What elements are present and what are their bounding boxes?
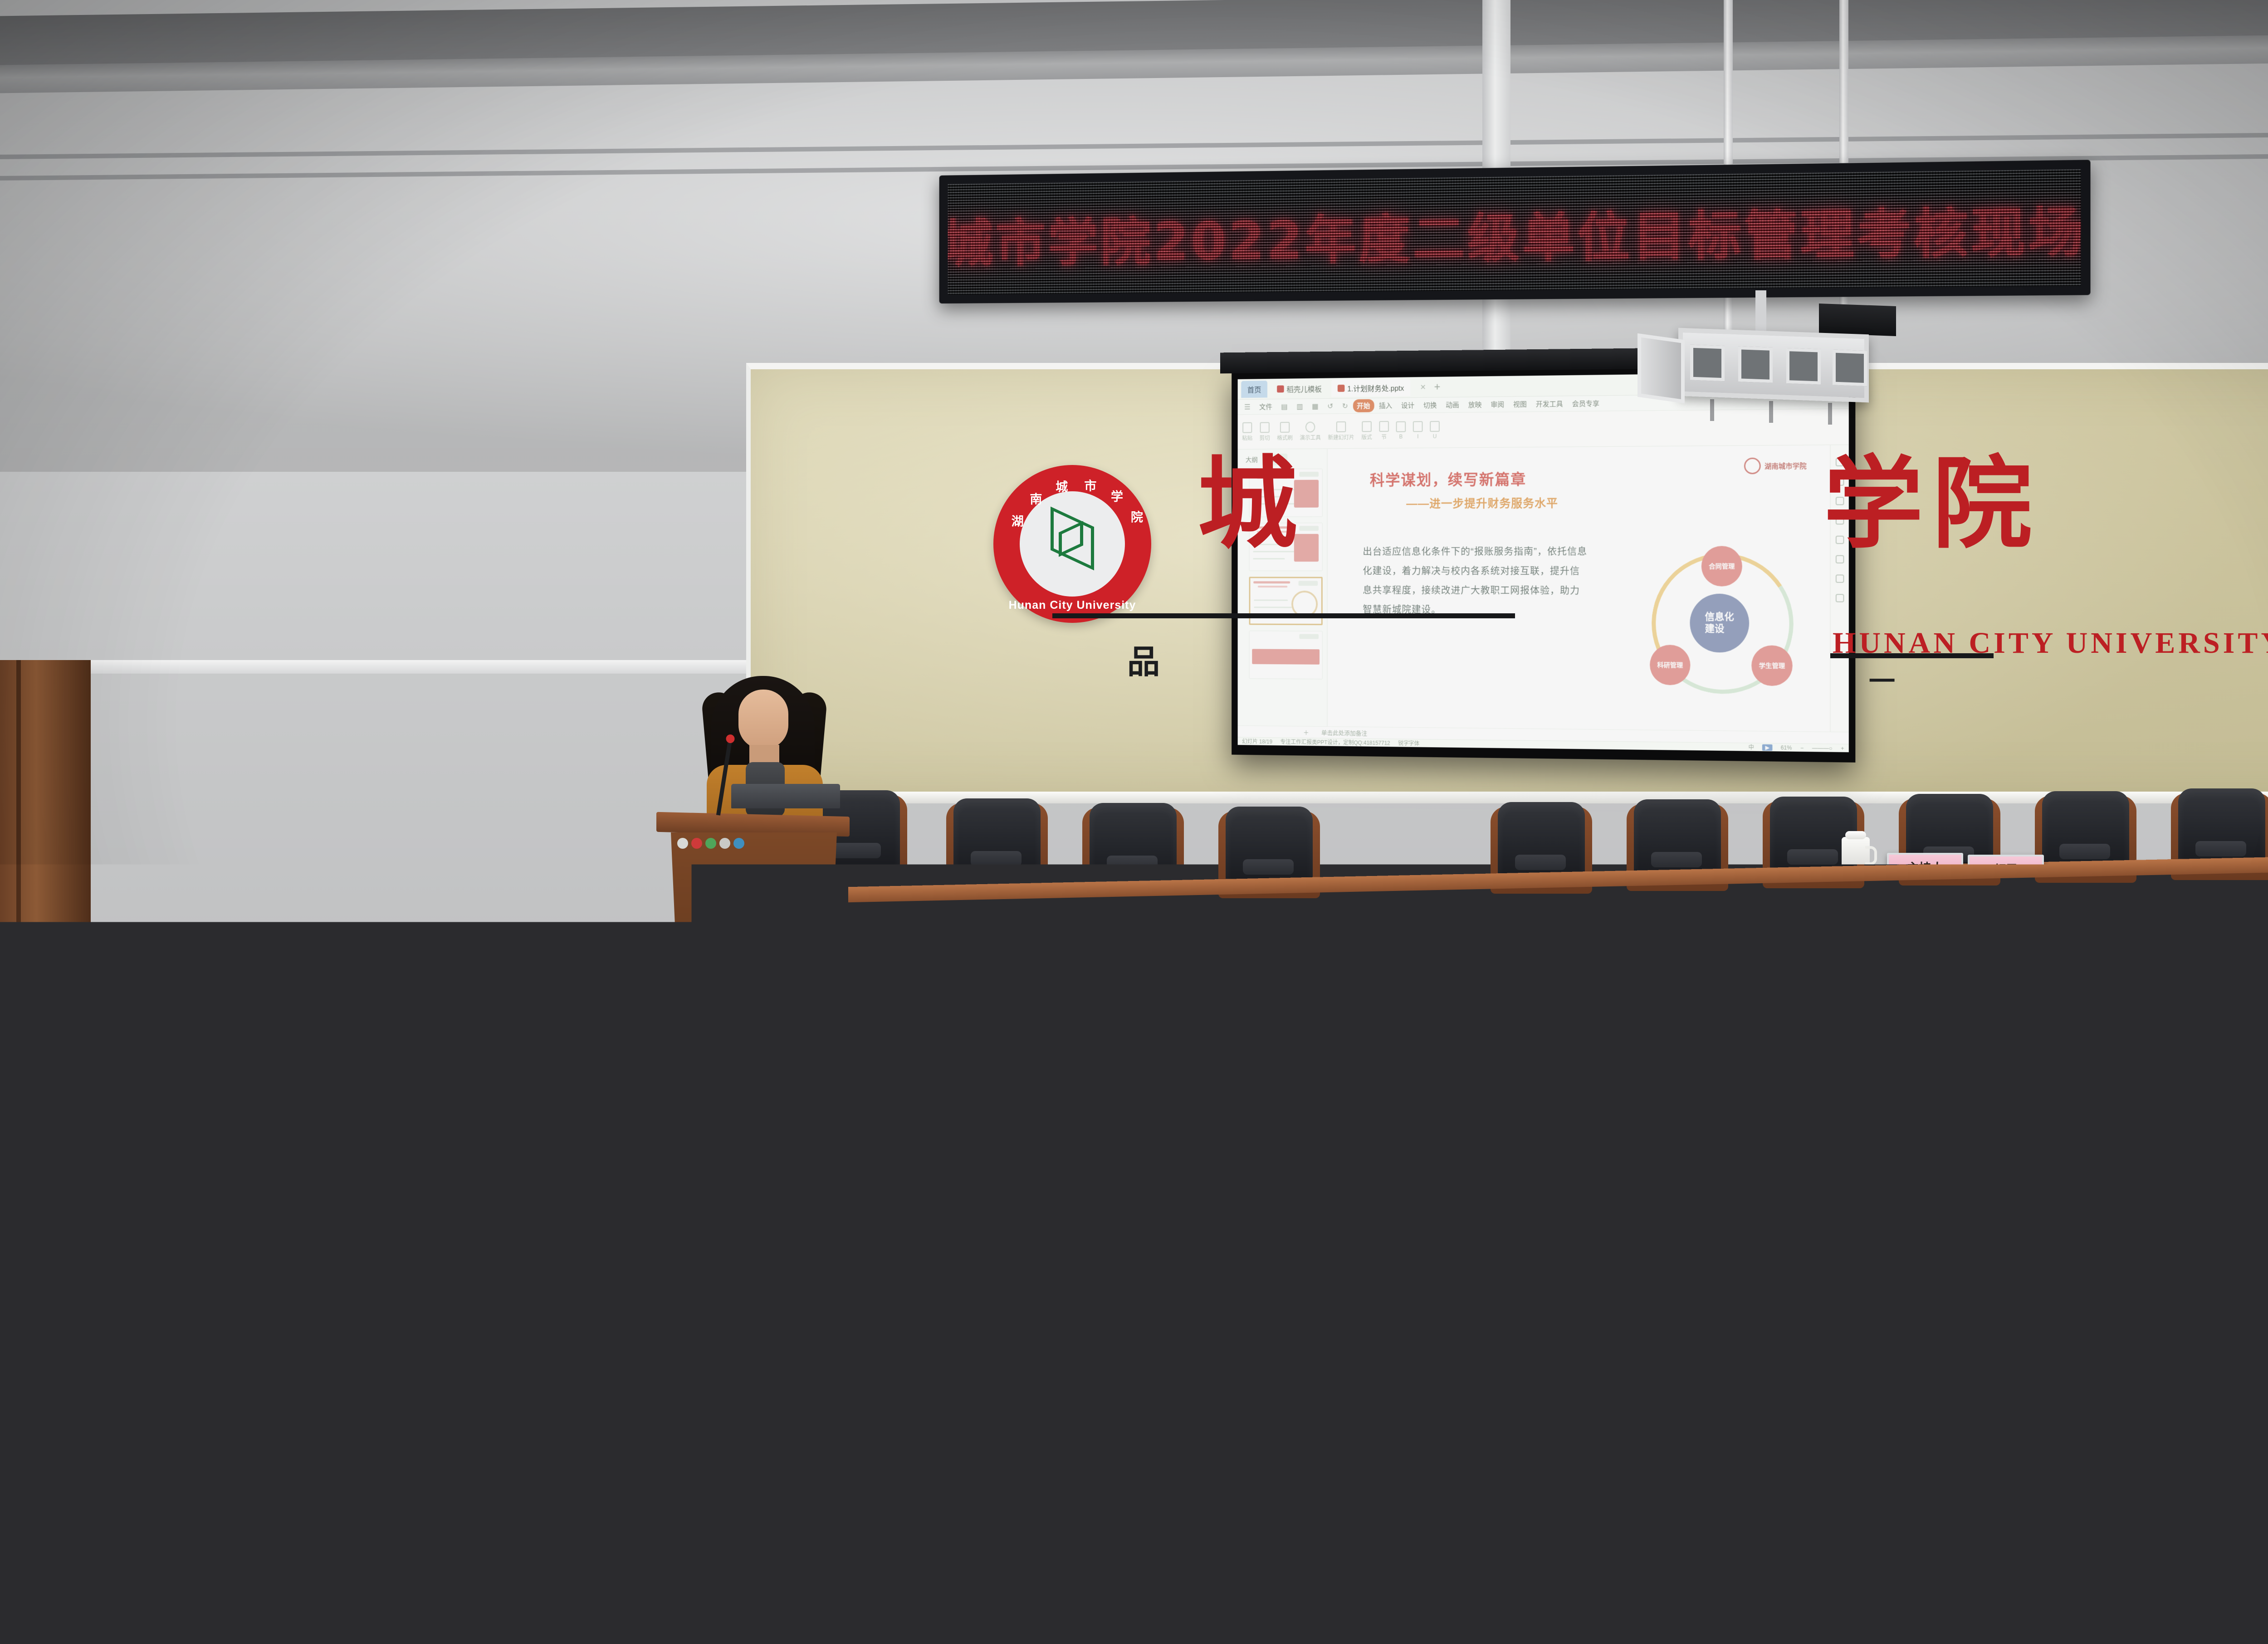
explorer-icon[interactable] (1279, 750, 1289, 752)
play-slideshow-button[interactable]: ▶ (1762, 744, 1772, 750)
slide-logo-text: 湖南城市学院 (1765, 461, 1807, 471)
speaking-podium (665, 814, 841, 1096)
present-tools-label: 演示工具 (1300, 434, 1321, 441)
new-slide-label: 新建幻灯片 (1328, 433, 1354, 441)
wps-workspace: 大纲 幻灯片 16 17 (1238, 445, 1849, 732)
cage-vent (1786, 348, 1821, 385)
slide-canvas[interactable]: 湖南城市学院 科学谋划，续写新篇章 ——进一步提升财务服务水平 出台适应信息化条… (1327, 445, 1830, 732)
led-banner-text: 湖南城市学院2022年度二级单位目标管理考核现场述职 (948, 187, 2081, 278)
thumbnail-19[interactable]: 19 (1249, 631, 1323, 679)
tab-pptx[interactable]: 1.计划财务处.pptx (1331, 379, 1410, 397)
projection-screen: 首页 稻壳儿模板 1.计划财务处.pptx ✕ + ☰ 文件 ▤ ▥ ▦ ↺ (1232, 364, 1855, 763)
audience-head (82, 1393, 195, 1502)
ribbon-tab-slideshow[interactable]: 放映 (1464, 398, 1486, 411)
yellow-box (254, 1089, 308, 1117)
layout-label: 版式 (1361, 433, 1372, 441)
paper-box-brand: UPM (628, 1035, 641, 1043)
audience-head (1601, 1270, 1699, 1363)
ribbon-tab-animation[interactable]: 动画 (1442, 398, 1463, 411)
wall-radiator (5, 996, 63, 1132)
presenter-face (738, 690, 788, 749)
tab-template[interactable]: 稻壳儿模板 (1271, 380, 1328, 397)
diagram-node-contract: 合同管理 (1701, 546, 1742, 586)
tab-template-label: 稻壳儿模板 (1286, 383, 1321, 394)
ribbon-tab-design[interactable]: 设计 (1397, 399, 1418, 412)
undo-icon[interactable]: ↺ (1323, 400, 1337, 412)
teacup (1842, 837, 1870, 872)
zoom-in-button[interactable]: + (1841, 745, 1844, 751)
university-emblem: 湖 南 城 市 学 院 Hunan City University (993, 465, 1151, 623)
close-tab-icon[interactable]: ✕ (1420, 382, 1426, 391)
section-label: 节 (1381, 433, 1387, 440)
name-placard: 领导 (1968, 855, 2044, 883)
paste-label: 粘贴 (1242, 434, 1252, 442)
slide-subtitle: ——进一步提升财务服务水平 (1406, 493, 1817, 511)
diagram-center-node: 信息化建设 (1690, 594, 1749, 653)
wall-calligraphy-char: 学 (1823, 454, 1923, 553)
name-placard-lei: 雷存喜 (2100, 1076, 2191, 1111)
audience-head (472, 1120, 548, 1193)
emblem-english-text: Hunan City University (993, 599, 1151, 612)
ceiling-speaker (1819, 303, 1896, 336)
new-slide-button[interactable]: 新建幻灯片 (1328, 421, 1354, 441)
zoom-out-button[interactable]: − (1800, 744, 1804, 751)
cage-vent (1690, 345, 1725, 382)
ribbon-tab-transition[interactable]: 切换 (1419, 398, 1441, 411)
led-screen: 湖南城市学院2022年度二级单位目标管理考核现场述职 (948, 169, 2081, 294)
diagram-node-research: 科研管理 (1650, 645, 1690, 685)
audience-torso (2160, 1147, 2268, 1268)
ribbon-tab-insert[interactable]: 插入 (1375, 399, 1396, 412)
wps-window: 首页 稻壳儿模板 1.计划财务处.pptx ✕ + ☰ 文件 ▤ ▥ ▦ ↺ (1238, 372, 1849, 752)
seat (1728, 1472, 1960, 1635)
wps-ribbon-toolbar: 粘贴 剪切 格式刷 演示工具 新建幻灯片 版式 节 B I U (1238, 409, 1849, 450)
executive-chair (953, 798, 1041, 889)
paste-button[interactable]: 粘贴 (1242, 422, 1252, 441)
start-icon[interactable] (1244, 749, 1254, 752)
tab-pptx-label: 1.计划财务处.pptx (1347, 382, 1404, 393)
name-placard: 领导 (1152, 1076, 1206, 1108)
edge-icon[interactable] (1261, 750, 1271, 753)
slide-diagram: 信息化建设 合同管理 科研管理 学生管理 (1646, 548, 1799, 700)
wall-calligraphy-char: 院 (1932, 454, 2032, 553)
template-icon (1277, 385, 1284, 392)
audience-head (1955, 1175, 2043, 1259)
wps-icon[interactable] (1331, 750, 1342, 752)
led-banner: 湖南城市学院2022年度二级单位目标管理考核现场述职 (939, 160, 2091, 303)
zoom-slider[interactable]: ———○ (1812, 744, 1833, 751)
audience-head (1565, 1370, 1674, 1474)
save-icon[interactable]: ▤ (1277, 400, 1292, 413)
audience-head (290, 1207, 376, 1288)
slide-body-text: 出台适应信息化条件下的“报账服务指南”，依托信息化建设，着力解决与校内各系统对接… (1363, 542, 1587, 620)
cut-label: 剪切 (1260, 434, 1270, 441)
ime-indicator[interactable]: 中 (1749, 743, 1754, 751)
audience-torso (1524, 1458, 1760, 1640)
seat (1007, 1474, 1238, 1638)
format-painter-label: 格式刷 (1277, 434, 1293, 441)
underline-button[interactable]: U (1430, 421, 1440, 440)
slide-counter: 幻灯片 18/19 (1242, 738, 1272, 745)
layout-button[interactable]: 版式 (1361, 421, 1372, 441)
wall-motto-char: 一 (1869, 660, 1895, 698)
seat (1247, 1473, 1479, 1637)
slide-logo: 湖南城市学院 (1744, 455, 1814, 476)
present-tools-button[interactable]: 演示工具 (1300, 421, 1321, 441)
podium-badges (677, 838, 744, 849)
section-button[interactable]: 节 (1379, 421, 1389, 441)
audience-head (2105, 1379, 2214, 1483)
wall-motto-char: 品 (1127, 635, 1160, 683)
projector-cage (1678, 328, 1869, 403)
template-credit: 专注工作汇报类PPT设计，定制QQ:418157712 (1280, 738, 1390, 747)
slide-logo-ring (1744, 458, 1761, 475)
print-icon[interactable]: ▥ (1292, 400, 1307, 413)
wechat-icon[interactable] (1314, 750, 1324, 752)
cage-vent (1833, 350, 1867, 387)
new-tab-icon[interactable]: + (1434, 381, 1441, 393)
hamburger-icon[interactable]: ☰ (1240, 401, 1254, 413)
add-slide-icon[interactable]: ＋ (1303, 728, 1309, 736)
audience-torso (1919, 1241, 2100, 1374)
teacup (1830, 1052, 1858, 1088)
audience-head (562, 1270, 669, 1371)
bold-button[interactable]: B (1396, 421, 1406, 440)
italic-button[interactable]: I (1413, 421, 1423, 440)
cup-tray (327, 1115, 353, 1133)
audience-head (1452, 1179, 1540, 1263)
ribbon-tab-review[interactable]: 审阅 (1486, 398, 1508, 411)
audience-torso (116, 1182, 270, 1300)
protect-icon[interactable] (1835, 574, 1844, 582)
cage-vent (1738, 346, 1773, 383)
ribbon-tab-view[interactable]: 视图 (1509, 397, 1531, 411)
audience-head (445, 1402, 558, 1511)
format-painter-button[interactable]: 格式刷 (1277, 421, 1293, 441)
export-icon[interactable]: ▦ (1308, 400, 1322, 413)
ribbon-tab-start[interactable]: 开始 (1353, 399, 1374, 412)
selection-icon[interactable] (1835, 594, 1844, 602)
teacup (1406, 1032, 1434, 1067)
projector-cage-door[interactable] (1637, 333, 1685, 404)
wall-calligraphy-char: 城 (1198, 454, 1297, 553)
chrome-icon[interactable] (1296, 750, 1307, 753)
diagram-node-student: 学生管理 (1751, 645, 1792, 686)
name-placard: 主持人 (1887, 853, 1963, 881)
redo-icon[interactable]: ↻ (1338, 400, 1352, 412)
ribbon-file[interactable]: 文件 (1255, 400, 1276, 413)
tab-home[interactable]: 首页 (1241, 381, 1267, 398)
conference-hall-photo: 湖南城市学院2022年度二级单位目标管理考核现场述职 湖 南 城 市 学 院 H… (0, 0, 2268, 1644)
wall-rule-line (1052, 613, 1515, 618)
audience-head (86, 1288, 191, 1388)
audience-torso (399, 1492, 626, 1644)
wall-rule-line (1830, 653, 1994, 658)
podium-laptop (731, 784, 840, 808)
pptx-icon (1338, 384, 1345, 391)
font-label: 锐字字体 (1398, 739, 1419, 747)
zoom-level[interactable]: 61% (1781, 744, 1792, 751)
audience-torso (2059, 1468, 2268, 1644)
ribbon-tab-member[interactable]: 会员专享 (1568, 396, 1603, 410)
audience-head (463, 1055, 531, 1119)
cut-button[interactable]: 剪切 (1260, 422, 1270, 441)
audience-torso (36, 1486, 263, 1644)
notes-placeholder: 单击此处添加备注 (1321, 728, 1367, 737)
ribbon-tab-devtools[interactable]: 开发工具 (1532, 397, 1567, 411)
